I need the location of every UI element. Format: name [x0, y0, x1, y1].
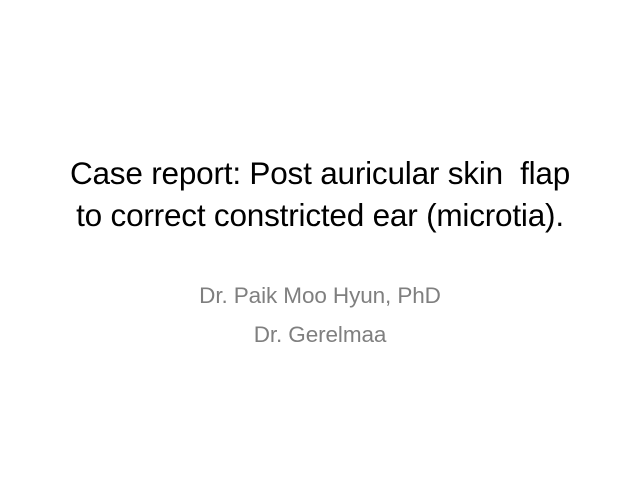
slide-canvas: Case report: Post auricular skin flap to… — [0, 0, 640, 480]
slide-title: Case report: Post auricular skin flap to… — [32, 152, 608, 236]
slide-title-line-1: Case report: Post auricular skin flap — [32, 152, 608, 194]
slide-subtitle-line-2: Dr. Gerelmaa — [32, 315, 608, 354]
slide-subtitle-line-1: Dr. Paik Moo Hyun, PhD — [32, 276, 608, 315]
slide-subtitle: Dr. Paik Moo Hyun, PhD Dr. Gerelmaa — [32, 276, 608, 354]
slide-title-line-2: to correct constricted ear (microtia). — [32, 194, 608, 236]
